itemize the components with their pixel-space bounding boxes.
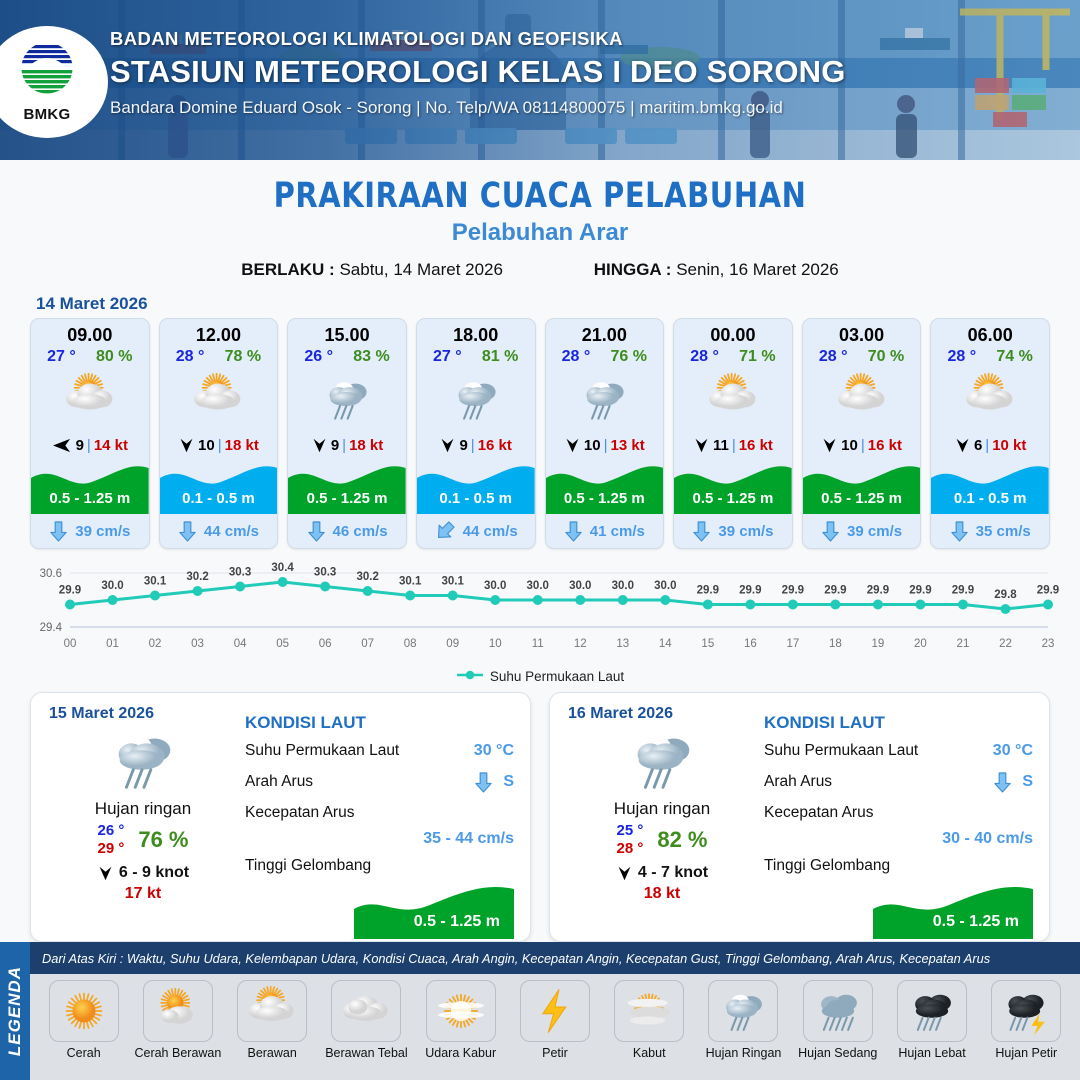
svg-text:22: 22 <box>999 638 1012 650</box>
card-air-temperature: 28 ° <box>690 348 719 366</box>
card-wave-label: 0.5 - 1.25 m <box>803 490 921 507</box>
daily-row-label: Kecepatan Arus <box>764 804 873 822</box>
legend-item: Berawan Tebal <box>321 980 412 1060</box>
hourly-forecast-card[interactable]: 09.00 27 ° 80 % <box>30 318 150 549</box>
card-wind-direction: 9 <box>331 437 339 454</box>
card-time: 18.00 <box>417 319 535 347</box>
daily-wind: 4 - 7 knot <box>566 864 758 882</box>
daily-wind: 6 - 9 knot <box>47 864 239 882</box>
chart-legend-marker-icon <box>456 669 484 684</box>
daily-forecast-panel[interactable]: 16 Maret 2026 Hujan ringan <box>549 692 1050 942</box>
berawan-icon <box>962 371 1018 427</box>
card-current-speed: 46 cm/s <box>333 523 388 540</box>
card-current-speed: 39 cm/s <box>847 523 902 540</box>
card-wave-height: 0.5 - 1.25 m <box>674 460 792 514</box>
card-current: 44 cm/s <box>417 514 535 548</box>
daily-row-wave-height: Tinggi Gelombang <box>764 854 1033 878</box>
card-humidity: 76 % <box>611 348 647 366</box>
udara-kabur-icon <box>434 984 488 1038</box>
daily-sea-title: KONDISI LAUT <box>245 713 514 733</box>
card-weather-icon <box>288 368 406 430</box>
svg-text:29.9: 29.9 <box>782 585 804 597</box>
card-wave-label: 0.5 - 1.25 m <box>674 490 792 507</box>
svg-text:29.9: 29.9 <box>824 585 846 597</box>
svg-text:07: 07 <box>361 638 374 650</box>
card-current: 44 cm/s <box>160 514 278 548</box>
hourly-date-label: 14 Maret 2026 <box>36 294 1080 314</box>
svg-text:29.9: 29.9 <box>697 585 719 597</box>
card-temp-humidity: 28 ° 70 % <box>803 347 921 366</box>
card-wind-direction: 10 <box>198 437 215 454</box>
daily-gust: 18 kt <box>566 885 758 903</box>
current-direction-arrow-south-icon <box>307 520 326 543</box>
svg-text:17: 17 <box>786 638 799 650</box>
wind-direction-arrow-south-icon <box>97 865 114 882</box>
daily-condition: Hujan ringan <box>47 799 239 819</box>
svg-text:30.3: 30.3 <box>314 567 336 579</box>
card-gust-speed: 10 kt <box>992 437 1026 454</box>
svg-text:05: 05 <box>276 638 289 650</box>
wind-direction-arrow-south-icon <box>616 865 633 882</box>
card-wave-label: 0.5 - 1.25 m <box>288 490 406 507</box>
legend-side-banner: LEGENDA <box>0 942 30 1080</box>
daily-wave-graphic: 0.5 - 1.25 m <box>764 881 1033 939</box>
card-air-temperature: 26 ° <box>304 348 333 366</box>
daily-row-label: Kecepatan Arus <box>245 804 354 822</box>
card-wave-label: 0.1 - 0.5 m <box>160 490 278 507</box>
daily-row-label: Arah Arus <box>764 773 832 791</box>
daily-row-wave-height: Tinggi Gelombang <box>245 854 514 878</box>
legend-item-label: Cerah Berawan <box>134 1046 221 1060</box>
legend-item-label: Cerah <box>67 1046 101 1060</box>
daily-sea-conditions: KONDISI LAUT Suhu Permukaan Laut 30 °C A… <box>239 705 514 931</box>
svg-text:13: 13 <box>616 638 629 650</box>
hourly-forecast-card[interactable]: 12.00 28 ° 78 % <box>159 318 279 549</box>
legend-item-label: Berawan Tebal <box>325 1046 407 1060</box>
daily-temps: 26 ° 29 ° 76 % <box>47 822 239 857</box>
legend-icon-box <box>331 980 401 1042</box>
svg-text:29.9: 29.9 <box>1037 585 1059 597</box>
legend-icon-box <box>237 980 307 1042</box>
card-weather-icon <box>674 368 792 430</box>
card-weather-icon <box>31 368 149 430</box>
daily-condition: Hujan ringan <box>566 799 758 819</box>
daily-row-value: S <box>993 771 1033 794</box>
wind-direction-arrow-south-icon <box>439 437 456 454</box>
svg-text:30.2: 30.2 <box>186 571 208 583</box>
card-wind-direction: 6 <box>974 437 982 454</box>
card-current-speed: 44 cm/s <box>204 523 259 540</box>
card-gust-speed: 14 kt <box>94 437 128 454</box>
svg-text:30.0: 30.0 <box>527 580 549 592</box>
card-gust-speed: 18 kt <box>225 437 259 454</box>
daily-temp-min: 25 ° <box>616 822 643 839</box>
legend-item: Hujan Sedang <box>792 980 883 1060</box>
card-weather-icon <box>546 368 664 430</box>
hujan-ringan-icon <box>104 721 182 799</box>
card-wind-separator: | <box>471 437 475 454</box>
berawan-tebal-icon <box>339 984 393 1038</box>
valid-to-value: Senin, 16 Maret 2026 <box>676 260 839 279</box>
hourly-forecast-card[interactable]: 06.00 28 ° 74 % <box>930 318 1050 549</box>
chart-legend: Suhu Permukaan Laut <box>0 669 1080 684</box>
daily-temp-min: 26 ° <box>97 822 124 839</box>
svg-text:10: 10 <box>489 638 502 650</box>
legend-side-label: LEGENDA <box>5 966 25 1056</box>
wind-direction-arrow-south-icon <box>693 437 710 454</box>
sea-temp-line-plot: 30.629.429.90030.00130.10230.20330.30430… <box>18 557 1062 665</box>
card-time: 21.00 <box>546 319 664 347</box>
station-name: STASIUN METEOROLOGI KELAS I DEO SORONG <box>110 54 846 90</box>
daily-left-column: 15 Maret 2026 Hujan ringan <box>47 705 239 931</box>
legend-item: Petir <box>509 980 600 1060</box>
current-direction-arrow-south-icon <box>564 520 583 543</box>
daily-forecast-row: 15 Maret 2026 Hujan ringan <box>0 684 1080 942</box>
card-temp-humidity: 28 ° 74 % <box>931 347 1049 366</box>
card-humidity: 81 % <box>482 348 518 366</box>
svg-text:12: 12 <box>574 638 587 650</box>
validity-period: BERLAKU : Sabtu, 14 Maret 2026 HINGGA : … <box>0 260 1080 280</box>
legend-item: Cerah <box>38 980 129 1060</box>
card-gust-speed: 16 kt <box>478 437 512 454</box>
daily-row-label: Suhu Permukaan Laut <box>245 742 399 760</box>
daily-current-direction-text: S <box>1022 773 1033 791</box>
card-current: 39 cm/s <box>674 514 792 548</box>
svg-text:30.6: 30.6 <box>40 568 62 580</box>
card-current: 46 cm/s <box>288 514 406 548</box>
card-air-temperature: 27 ° <box>47 348 76 366</box>
legend-item-label: Petir <box>542 1046 568 1060</box>
hujan-ringan-icon <box>448 371 504 427</box>
daily-current-direction-text: S <box>503 773 514 791</box>
svg-text:03: 03 <box>191 638 204 650</box>
svg-text:04: 04 <box>234 638 247 650</box>
legend-icon-box <box>614 980 684 1042</box>
bmkg-emblem-icon <box>11 41 83 103</box>
card-time: 03.00 <box>803 319 921 347</box>
svg-text:15: 15 <box>701 638 714 650</box>
card-air-temperature: 28 ° <box>176 348 205 366</box>
valid-to-label: HINGGA : <box>594 260 672 279</box>
page-header: BMKG BADAN METEOROLOGI KLIMATOLOGI DAN G… <box>0 0 1080 160</box>
svg-text:30.0: 30.0 <box>654 580 676 592</box>
svg-text:02: 02 <box>149 638 162 650</box>
wind-direction-arrow-south-icon <box>178 437 195 454</box>
card-temp-humidity: 27 ° 81 % <box>417 347 535 366</box>
card-wave-height: 0.1 - 0.5 m <box>931 460 1049 514</box>
legend-item-label: Hujan Sedang <box>798 1046 877 1060</box>
svg-text:30.0: 30.0 <box>484 580 506 592</box>
card-wind-direction: 10 <box>584 437 601 454</box>
daily-wind-speed: 6 - 9 knot <box>119 864 189 882</box>
svg-text:29.4: 29.4 <box>40 622 63 634</box>
card-humidity: 74 % <box>996 348 1032 366</box>
legend-item-label: Udara Kabur <box>425 1046 496 1060</box>
card-wave-height: 0.5 - 1.25 m <box>546 460 664 514</box>
card-wind-direction: 10 <box>841 437 858 454</box>
daily-sea-conditions: KONDISI LAUT Suhu Permukaan Laut 30 °C A… <box>758 705 1033 931</box>
card-temp-humidity: 26 ° 83 % <box>288 347 406 366</box>
contact-line: Bandara Domine Eduard Osok - Sorong | No… <box>110 98 846 118</box>
page-subtitle: Pelabuhan Arar <box>0 219 1080 247</box>
card-wind: 10 | 16 kt <box>803 430 921 460</box>
card-temp-humidity: 28 ° 71 % <box>674 347 792 366</box>
cerah-icon <box>57 984 111 1038</box>
card-time: 15.00 <box>288 319 406 347</box>
wind-direction-arrow-south-icon <box>821 437 838 454</box>
svg-text:30.0: 30.0 <box>612 580 634 592</box>
daily-wave-label: 0.5 - 1.25 m <box>414 913 500 931</box>
daily-row-current-speed: Kecepatan Arus <box>245 801 514 825</box>
card-wind: 10 | 18 kt <box>160 430 278 460</box>
hujan-ringan-icon <box>319 371 375 427</box>
card-wind: 9 | 14 kt <box>31 430 149 460</box>
card-humidity: 80 % <box>96 348 132 366</box>
hujan-sedang-icon <box>811 984 865 1038</box>
daily-temp-max: 28 ° <box>616 840 643 857</box>
svg-text:30.1: 30.1 <box>399 576 422 588</box>
card-wind: 9 | 18 kt <box>288 430 406 460</box>
card-gust-speed: 18 kt <box>349 437 383 454</box>
card-wind: 11 | 16 kt <box>674 430 792 460</box>
card-wave-height: 0.5 - 1.25 m <box>288 460 406 514</box>
berawan-icon <box>705 371 761 427</box>
legend-section: LEGENDA Dari Atas Kiri : Waktu, Suhu Uda… <box>0 942 1080 1080</box>
wind-direction-arrow-south-icon <box>311 437 328 454</box>
card-wind: 6 | 10 kt <box>931 430 1049 460</box>
svg-text:09: 09 <box>446 638 459 650</box>
card-current-speed: 41 cm/s <box>590 523 645 540</box>
hourly-forecast-row: 09.00 27 ° 80 % <box>0 318 1080 549</box>
svg-text:30.2: 30.2 <box>356 571 378 583</box>
daily-row-value: 30 °C <box>474 742 514 760</box>
card-wind-direction: 11 <box>713 437 729 454</box>
card-current-speed: 39 cm/s <box>75 523 130 540</box>
legend-icon-list: Cerah Cerah Berawan <box>30 974 1080 1080</box>
card-air-temperature: 28 ° <box>948 348 977 366</box>
legend-icon-box <box>803 980 873 1042</box>
card-temp-humidity: 28 ° 78 % <box>160 347 278 366</box>
daily-wind-speed: 4 - 7 knot <box>638 864 708 882</box>
daily-row-current-direction: Arah Arus S <box>245 770 514 794</box>
card-current: 41 cm/s <box>546 514 664 548</box>
card-temp-humidity: 27 ° 80 % <box>31 347 149 366</box>
svg-text:29.9: 29.9 <box>952 585 974 597</box>
card-wind-separator: | <box>604 437 608 454</box>
svg-text:30.1: 30.1 <box>144 576 167 588</box>
card-humidity: 83 % <box>353 348 389 366</box>
berawan-icon <box>834 371 890 427</box>
card-time: 00.00 <box>674 319 792 347</box>
legend-icon-box <box>49 980 119 1042</box>
berawan-icon <box>190 371 246 427</box>
hourly-forecast-card[interactable]: 00.00 28 ° 71 % <box>673 318 793 549</box>
daily-wave-graphic: 0.5 - 1.25 m <box>245 881 514 939</box>
valid-from-label: BERLAKU : <box>241 260 335 279</box>
card-time: 09.00 <box>31 319 149 347</box>
daily-row-current-speed: Kecepatan Arus <box>764 801 1033 825</box>
current-direction-arrow-south-icon <box>49 520 68 543</box>
card-humidity: 70 % <box>868 348 904 366</box>
card-wind-separator: | <box>861 437 865 454</box>
card-current: 35 cm/s <box>931 514 1049 548</box>
svg-text:30.4: 30.4 <box>271 562 294 574</box>
hujan-lebat-icon <box>905 984 959 1038</box>
current-direction-arrow-south-icon <box>178 520 197 543</box>
current-direction-arrow-south-icon <box>950 520 969 543</box>
svg-text:08: 08 <box>404 638 417 650</box>
card-wave-height: 0.1 - 0.5 m <box>160 460 278 514</box>
card-wind-separator: | <box>985 437 989 454</box>
daily-temps: 25 ° 28 ° 82 % <box>566 822 758 857</box>
daily-row-sea-temperature: Suhu Permukaan Laut 30 °C <box>245 739 514 763</box>
daily-humidity: 82 % <box>657 827 707 853</box>
daily-row-value: 30 °C <box>993 742 1033 760</box>
card-air-temperature: 28 ° <box>562 348 591 366</box>
svg-text:29.9: 29.9 <box>909 585 931 597</box>
card-wind-direction: 9 <box>459 437 467 454</box>
card-weather-icon <box>931 368 1049 430</box>
daily-humidity: 76 % <box>138 827 188 853</box>
legend-item-label: Hujan Lebat <box>898 1046 965 1060</box>
svg-text:30.3: 30.3 <box>229 567 251 579</box>
daily-gust: 17 kt <box>47 885 239 903</box>
legend-icon-box <box>991 980 1061 1042</box>
card-wave-label: 0.5 - 1.25 m <box>546 490 664 507</box>
legend-icon-box <box>426 980 496 1042</box>
legend-icon-box <box>708 980 778 1042</box>
current-direction-arrow-south-icon <box>474 771 493 794</box>
daily-row-sea-temperature: Suhu Permukaan Laut 30 °C <box>764 739 1033 763</box>
svg-text:30.0: 30.0 <box>101 580 123 592</box>
svg-text:21: 21 <box>957 638 970 650</box>
svg-text:18: 18 <box>829 638 842 650</box>
svg-text:29.9: 29.9 <box>59 585 81 597</box>
svg-text:23: 23 <box>1042 638 1055 650</box>
svg-text:01: 01 <box>106 638 119 650</box>
legend-item: Kabut <box>604 980 695 1060</box>
hujan-petir-icon <box>999 984 1053 1038</box>
card-current: 39 cm/s <box>803 514 921 548</box>
card-wind-direction: 9 <box>76 437 84 454</box>
hourly-forecast-card[interactable]: 21.00 28 ° 76 % <box>545 318 665 549</box>
berawan-icon <box>62 371 118 427</box>
svg-text:19: 19 <box>872 638 885 650</box>
svg-text:11: 11 <box>532 638 544 650</box>
legend-item: Hujan Lebat <box>886 980 977 1060</box>
daily-sea-title: KONDISI LAUT <box>764 713 1033 733</box>
hourly-forecast-card[interactable]: 18.00 27 ° 81 % <box>416 318 536 549</box>
card-current: 39 cm/s <box>31 514 149 548</box>
legend-icon-box <box>520 980 590 1042</box>
card-time: 12.00 <box>160 319 278 347</box>
card-current-speed: 35 cm/s <box>976 523 1031 540</box>
current-direction-arrow-southwest-icon <box>434 520 456 542</box>
card-wind-separator: | <box>218 437 222 454</box>
svg-text:30.1: 30.1 <box>442 576 465 588</box>
hourly-forecast-card[interactable]: 03.00 28 ° 70 % <box>802 318 922 549</box>
legend-item: Cerah Berawan <box>132 980 223 1060</box>
card-gust-speed: 13 kt <box>611 437 645 454</box>
legend-item-label: Kabut <box>633 1046 666 1060</box>
card-wave-label: 0.1 - 0.5 m <box>417 490 535 507</box>
hourly-forecast-card[interactable]: 15.00 26 ° 83 % <box>287 318 407 549</box>
svg-text:14: 14 <box>659 638 672 650</box>
daily-wave-label: 0.5 - 1.25 m <box>933 913 1019 931</box>
legend-item: Hujan Ringan <box>698 980 789 1060</box>
legend-item-label: Berawan <box>247 1046 296 1060</box>
daily-weather-icon <box>47 723 239 797</box>
agency-name: BADAN METEOROLOGI KLIMATOLOGI DAN GEOFIS… <box>110 28 846 50</box>
svg-text:29.8: 29.8 <box>994 589 1017 601</box>
wind-direction-arrow-west-icon <box>52 437 73 454</box>
legend-item-label: Hujan Petir <box>995 1046 1057 1060</box>
daily-weather-icon <box>566 723 758 797</box>
hujan-ringan-icon <box>716 984 770 1038</box>
card-current-speed: 44 cm/s <box>463 523 518 540</box>
card-gust-speed: 16 kt <box>739 437 773 454</box>
legend-icon-box <box>143 980 213 1042</box>
valid-to: HINGGA : Senin, 16 Maret 2026 <box>594 260 839 280</box>
card-wave-label: 0.1 - 0.5 m <box>931 490 1049 507</box>
daily-forecast-panel[interactable]: 15 Maret 2026 Hujan ringan <box>30 692 531 942</box>
petir-icon <box>528 984 582 1038</box>
svg-text:00: 00 <box>64 638 77 650</box>
card-weather-icon <box>803 368 921 430</box>
svg-text:29.9: 29.9 <box>739 585 761 597</box>
card-time: 06.00 <box>931 319 1049 347</box>
card-wave-label: 0.5 - 1.25 m <box>31 490 149 507</box>
daily-row-label: Tinggi Gelombang <box>764 857 890 875</box>
page-title: PRAKIRAAN CUACA PELABUHAN <box>43 176 1037 216</box>
title-block: PRAKIRAAN CUACA PELABUHAN Pelabuhan Arar… <box>0 160 1080 280</box>
wind-direction-arrow-south-icon <box>954 437 971 454</box>
card-wind-separator: | <box>342 437 346 454</box>
daily-row-label: Suhu Permukaan Laut <box>764 742 918 760</box>
card-wind: 10 | 13 kt <box>546 430 664 460</box>
berawan-icon <box>245 984 299 1038</box>
current-direction-arrow-south-icon <box>692 520 711 543</box>
wind-direction-arrow-south-icon <box>564 437 581 454</box>
valid-from: BERLAKU : Sabtu, 14 Maret 2026 <box>241 260 503 280</box>
card-wind-separator: | <box>87 437 91 454</box>
card-wave-height: 0.1 - 0.5 m <box>417 460 535 514</box>
daily-current-speed-value: 35 - 44 cm/s <box>245 830 514 848</box>
current-direction-arrow-south-icon <box>821 520 840 543</box>
legend-item: Udara Kabur <box>415 980 506 1060</box>
card-air-temperature: 27 ° <box>433 348 462 366</box>
hujan-ringan-icon <box>576 371 632 427</box>
card-wave-height: 0.5 - 1.25 m <box>31 460 149 514</box>
card-weather-icon <box>160 368 278 430</box>
svg-text:16: 16 <box>744 638 757 650</box>
card-humidity: 78 % <box>225 348 261 366</box>
legend-item: Hujan Petir <box>981 980 1072 1060</box>
card-air-temperature: 28 ° <box>819 348 848 366</box>
card-wave-height: 0.5 - 1.25 m <box>803 460 921 514</box>
sea-temperature-chart: 30.629.429.90030.00130.10230.20330.30430… <box>18 557 1062 667</box>
svg-text:06: 06 <box>319 638 332 650</box>
card-gust-speed: 16 kt <box>868 437 902 454</box>
cerah-berawan-icon <box>151 984 205 1038</box>
chart-legend-label: Suhu Permukaan Laut <box>490 669 624 684</box>
daily-row-label: Tinggi Gelombang <box>245 857 371 875</box>
legend-icon-box <box>897 980 967 1042</box>
hujan-ringan-icon <box>623 721 701 799</box>
valid-from-value: Sabtu, 14 Maret 2026 <box>339 260 503 279</box>
svg-text:20: 20 <box>914 638 927 650</box>
daily-temp-max: 29 ° <box>97 840 124 857</box>
